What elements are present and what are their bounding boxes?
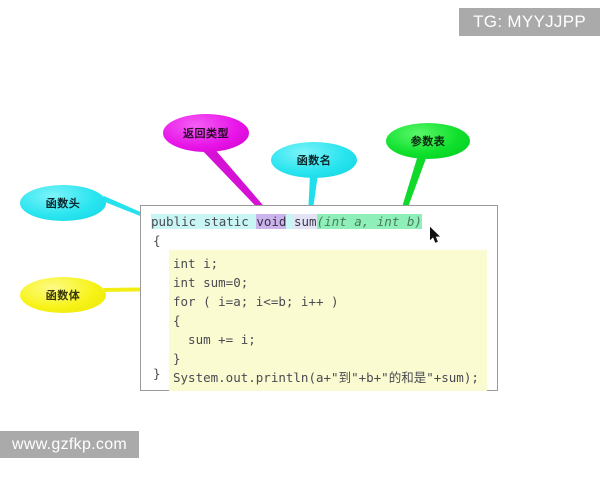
callout-function-body[interactable]: 函数体 (20, 277, 106, 313)
method-open-brace: { (153, 231, 161, 250)
body-line-for-statement: for ( i=a; i<=b; i++ ) (173, 292, 483, 311)
mouse-cursor-icon (430, 227, 442, 244)
signature-return-type: void (256, 214, 286, 229)
code-panel: public static void sum(int a, int b) { i… (140, 205, 498, 391)
body-line-declare-sum: int sum=0; (173, 273, 483, 292)
body-line-loop-close-brace: } (173, 349, 483, 368)
signature-space (286, 214, 294, 229)
body-line-accumulate: sum += i; (173, 330, 483, 349)
watermark-top-right: TG: MYYJJPP (459, 8, 600, 36)
body-line-loop-open-brace: { (173, 311, 483, 330)
signature-modifiers: public static (151, 214, 256, 229)
method-body-block: int i; int sum=0; for ( i=a; i<=b; i++ )… (169, 250, 487, 391)
callout-function-name[interactable]: 函数名 (271, 142, 357, 178)
callout-function-head[interactable]: 函数头 (20, 185, 106, 221)
signature-method-name: sum (294, 214, 317, 229)
callout-parameter-list[interactable]: 参数表 (386, 123, 470, 159)
signature-parameter-list: (int a, int b) (317, 214, 422, 229)
diagram-canvas: TG: MYYJJPP www.gzfkp.com 返回类型 函数名 参数表 函… (0, 0, 600, 480)
body-line-println: System.out.println(a+"到"+b+"的和是"+sum); (173, 368, 483, 387)
body-line-declare-i: int i; (173, 254, 483, 273)
method-close-brace: } (153, 364, 161, 383)
method-signature-line: public static void sum(int a, int b) (151, 212, 422, 231)
callout-return-type[interactable]: 返回类型 (163, 114, 249, 152)
watermark-bottom-left: www.gzfkp.com (0, 431, 139, 458)
